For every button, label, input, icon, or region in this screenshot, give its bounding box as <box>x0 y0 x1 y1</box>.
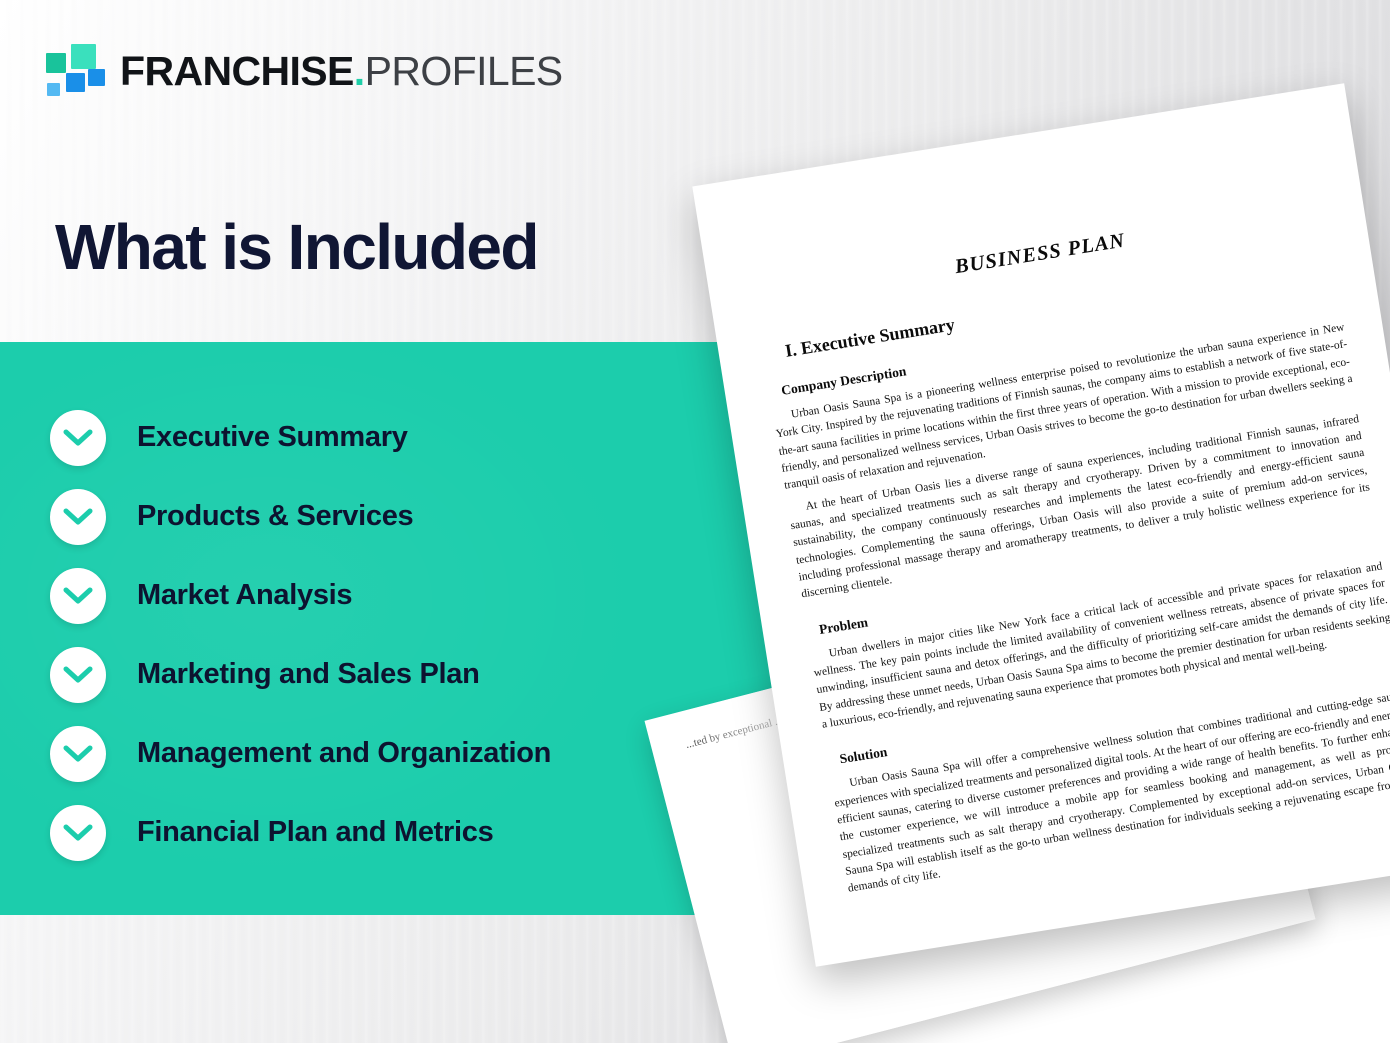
logo-square-3 <box>66 73 85 92</box>
list-item-label: Executive Summary <box>137 421 408 454</box>
document-page-front: BUSINESS PLAN I. Executive Summary Compa… <box>692 83 1390 967</box>
chevron-down-icon <box>50 647 106 703</box>
five-squares-logo-icon <box>44 43 102 99</box>
slide-canvas: FRANCHISE.PROFILES What is Included Exec… <box>0 0 1390 1043</box>
list-item-label: Financial Plan and Metrics <box>137 816 493 849</box>
brand-wordmark: FRANCHISE.PROFILES <box>120 51 563 92</box>
chevron-down-icon <box>50 410 106 466</box>
logo-square-4 <box>88 69 105 86</box>
list-item-label: Market Analysis <box>137 579 352 612</box>
brand-name-dot: . <box>354 48 365 94</box>
list-item-label: Marketing and Sales Plan <box>137 658 480 691</box>
list-item-label: Management and Organization <box>137 737 551 770</box>
brand-logo: FRANCHISE.PROFILES <box>44 43 563 99</box>
list-item-label: Products & Services <box>137 500 413 533</box>
chevron-down-icon <box>50 805 106 861</box>
chevron-down-icon <box>50 489 106 545</box>
brand-name-bold: FRANCHISE <box>120 48 354 94</box>
logo-square-5 <box>47 83 60 96</box>
business-plan-document-stack: ...ted by exceptional ...urban wellness … <box>660 120 1390 1043</box>
brand-name-thin: PROFILES <box>365 48 563 94</box>
chevron-down-icon <box>50 568 106 624</box>
document-page-front-content: BUSINESS PLAN I. Executive Summary Compa… <box>692 83 1390 967</box>
document-title: BUSINESS PLAN <box>753 198 1327 311</box>
logo-square-2 <box>71 44 96 69</box>
logo-square-1 <box>46 53 66 73</box>
page-title: What is Included <box>55 212 538 282</box>
chevron-down-icon <box>50 726 106 782</box>
